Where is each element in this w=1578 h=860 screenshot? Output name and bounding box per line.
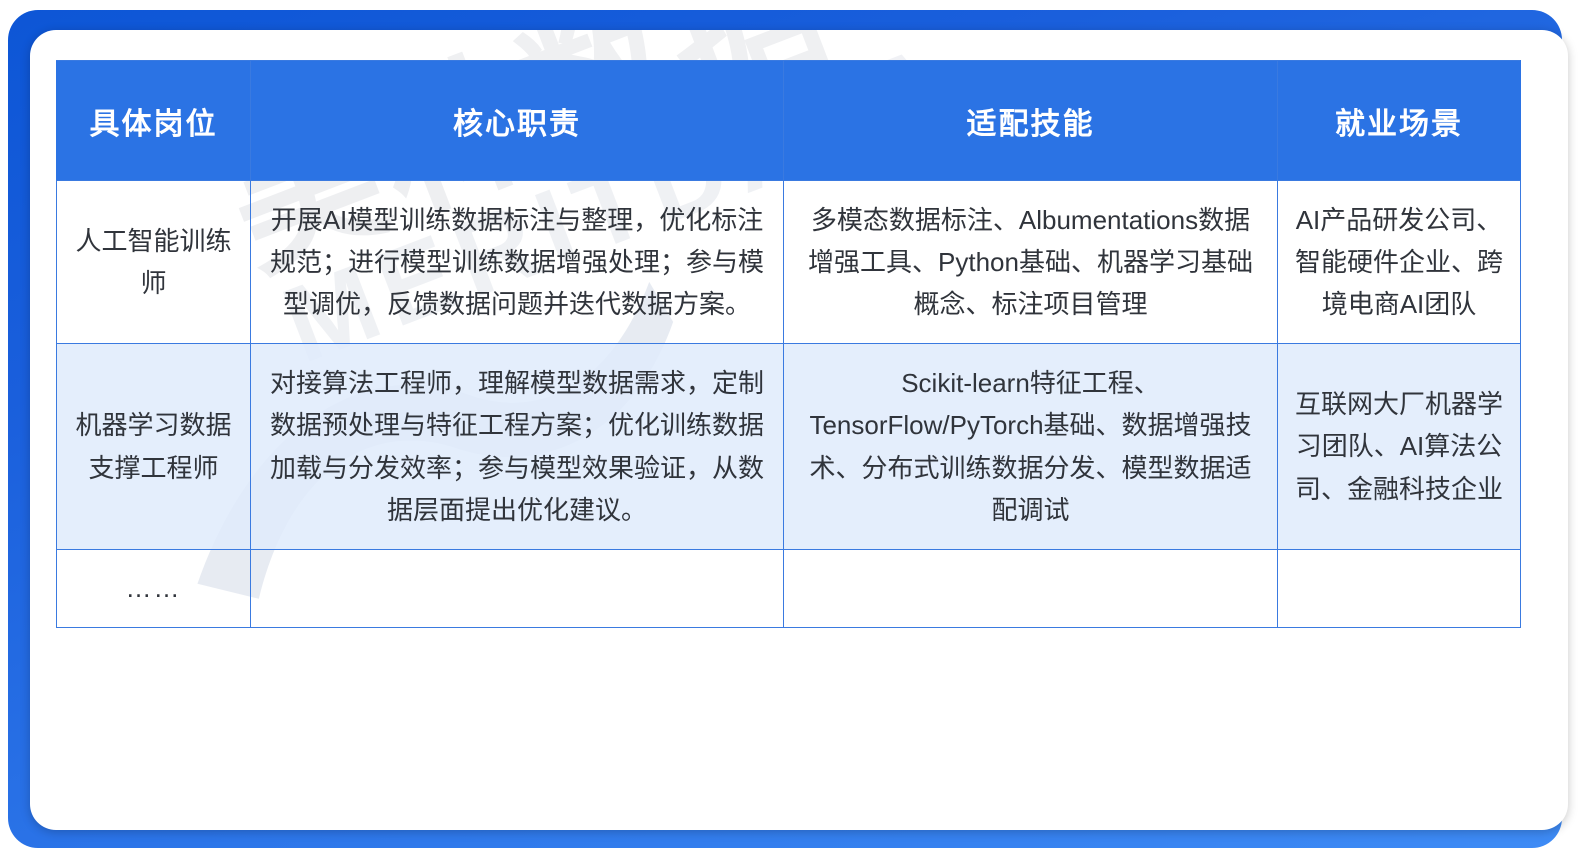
cell-job: 机器学习数据支撑工程师 [57, 344, 251, 549]
cell-skill: Scikit-learn特征工程、TensorFlow/PyTorch基础、数据… [784, 344, 1278, 549]
header-row: 具体岗位 核心职责 适配技能 就业场景 [57, 61, 1521, 181]
column-header-skill: 适配技能 [784, 61, 1278, 181]
cell-scene-empty [1278, 549, 1521, 627]
table-body: 人工智能训练师 开展AI模型训练数据标注与整理，优化标注规范；进行模型训练数据增… [57, 181, 1521, 628]
cell-duty: 对接算法工程师，理解模型数据需求，定制数据预处理与特征工程方案；优化训练数据加载… [251, 344, 784, 549]
table-row: 机器学习数据支撑工程师 对接算法工程师，理解模型数据需求，定制数据预处理与特征工… [57, 344, 1521, 549]
table-header: 具体岗位 核心职责 适配技能 就业场景 [57, 61, 1521, 181]
table-row: …… [57, 549, 1521, 627]
cell-scene: AI产品研发公司、智能硬件企业、跨境电商AI团队 [1278, 181, 1521, 344]
cell-duty-empty [251, 549, 784, 627]
page-root: 美林数据 MERITDATA 具体岗位 核心职责 适配技能 就业场景 [0, 0, 1578, 860]
cell-scene: 互联网大厂机器学习团队、AI算法公司、金融科技企业 [1278, 344, 1521, 549]
cell-job-ellipsis: …… [57, 549, 251, 627]
column-header-job: 具体岗位 [57, 61, 251, 181]
cell-skill: 多模态数据标注、Albumentations数据增强工具、Python基础、机器… [784, 181, 1278, 344]
table-row: 人工智能训练师 开展AI模型训练数据标注与整理，优化标注规范；进行模型训练数据增… [57, 181, 1521, 344]
job-table-container: 具体岗位 核心职责 适配技能 就业场景 人工智能训练师 开展AI模型训练数据标注… [56, 60, 1520, 628]
cell-skill-empty [784, 549, 1278, 627]
cell-duty: 开展AI模型训练数据标注与整理，优化标注规范；进行模型训练数据增强处理；参与模型… [251, 181, 784, 344]
content-card: 美林数据 MERITDATA 具体岗位 核心职责 适配技能 就业场景 [30, 30, 1568, 830]
column-header-scene: 就业场景 [1278, 61, 1521, 181]
column-header-duty: 核心职责 [251, 61, 784, 181]
cell-job: 人工智能训练师 [57, 181, 251, 344]
job-table: 具体岗位 核心职责 适配技能 就业场景 人工智能训练师 开展AI模型训练数据标注… [56, 60, 1521, 628]
